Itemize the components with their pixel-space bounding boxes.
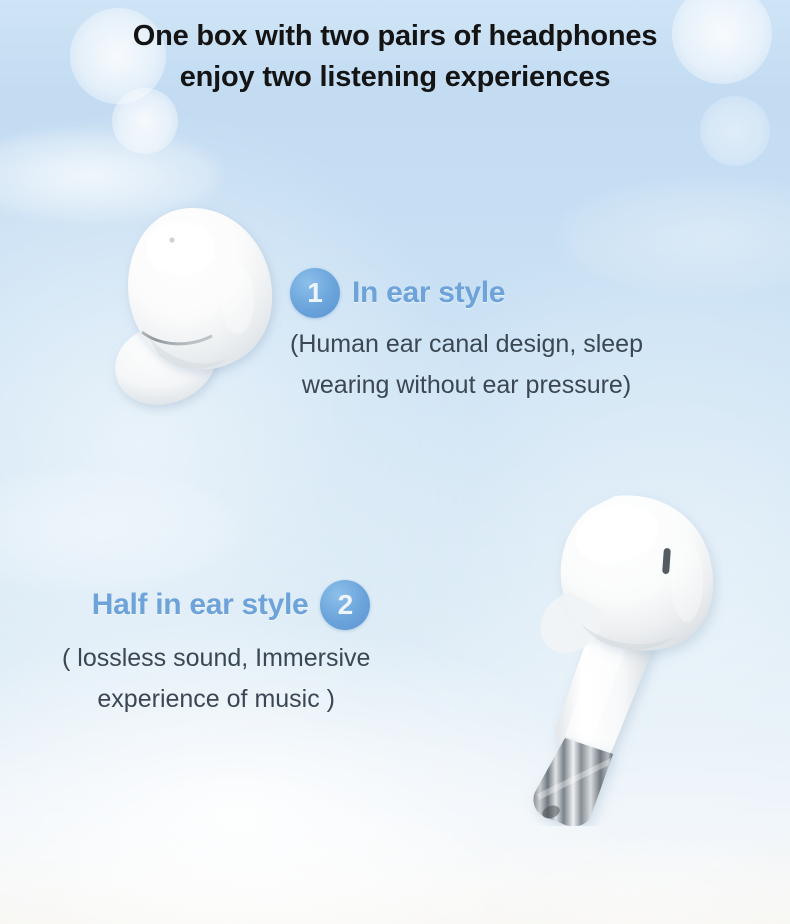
feature-2-description: ( lossless sound, Immersive experience o… — [62, 638, 370, 719]
bokeh-circle-mid-right — [700, 96, 770, 166]
feature-2-title: Half in ear style — [92, 588, 309, 622]
feature-1-description-line-1: (Human ear canal design, sleep — [290, 324, 643, 365]
headline-line-2: enjoy two listening experiences — [0, 57, 790, 98]
in-ear-earbud-image — [88, 196, 308, 416]
feature-block-in-ear-style: 1 In ear style (Human ear canal design, … — [290, 268, 643, 405]
feature-2-description-line-1: ( lossless sound, Immersive — [62, 638, 370, 679]
earbud-1-body — [128, 208, 272, 369]
half-in-ear-earbud-image — [495, 486, 745, 826]
feature-1-description-line-2: wearing without ear pressure) — [290, 365, 643, 406]
headline-line-1: One box with two pairs of headphones — [0, 16, 790, 57]
cloud-wisp-bottom — [60, 800, 480, 924]
earbud-1-mic-pinhole — [169, 237, 174, 242]
page-title: One box with two pairs of headphones enj… — [0, 16, 790, 98]
earbud-2-chrome-band — [533, 738, 613, 826]
feature-1-number-badge: 1 — [290, 268, 340, 318]
feature-2-description-line-2: experience of music ) — [62, 679, 370, 720]
feature-block-half-in-ear-style: Half in ear style 2 ( lossless sound, Im… — [62, 580, 370, 719]
cloud-wisp-lower-left — [0, 470, 240, 590]
feature-1-title: In ear style — [352, 276, 505, 310]
feature-1-heading: 1 In ear style — [290, 268, 643, 318]
feature-2-number-badge: 2 — [320, 580, 370, 630]
feature-2-heading: Half in ear style 2 — [62, 580, 370, 630]
feature-1-description: (Human ear canal design, sleep wearing w… — [290, 324, 643, 405]
cloud-wisp-bottom-right — [430, 840, 790, 924]
earbud-2-head — [540, 495, 713, 652]
product-feature-banner: One box with two pairs of headphones enj… — [0, 0, 790, 924]
